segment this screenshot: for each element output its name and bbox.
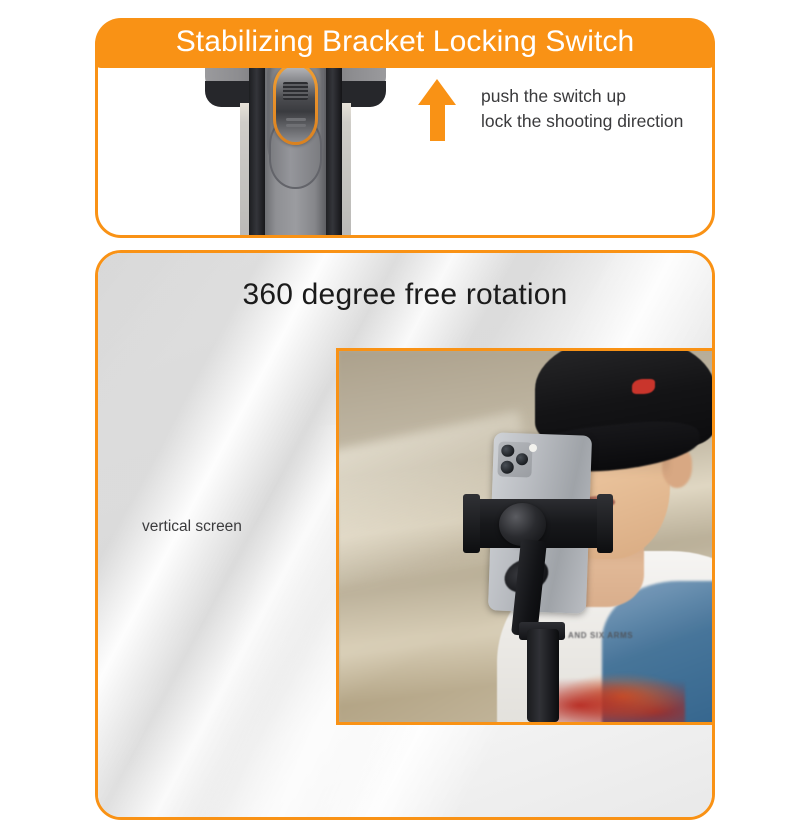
gimbal-switch-grip <box>283 82 308 100</box>
photo-phone-flash <box>529 444 537 452</box>
photo-gimbal-clamp-right-arm <box>597 494 614 553</box>
photo-cap-logo <box>632 379 655 394</box>
photo-gimbal-handle <box>527 629 559 722</box>
photo-gimbal-clamp-left-arm <box>463 494 480 553</box>
gimbal-switch-inner <box>276 66 315 142</box>
gimbal-left-strip <box>240 103 249 238</box>
gimbal-right-strip <box>342 103 351 238</box>
lifestyle-photo-content: HEADS AND SIX ARMS <box>339 351 715 722</box>
instruction-line-2: lock the shooting direction <box>481 109 683 134</box>
gimbal-switch-lines <box>286 118 306 128</box>
arrow-shaft <box>430 99 445 141</box>
page-title: Stabilizing Bracket Locking Switch <box>176 27 635 59</box>
instruction-text: push the switch up lock the shooting dir… <box>481 84 683 134</box>
rotation-card: 360 degree free rotation vertical screen… <box>95 250 715 820</box>
product-feature-page: push the switch up lock the shooting dir… <box>0 0 800 800</box>
rotation-heading: 360 degree free rotation <box>98 280 712 310</box>
photo-phone-camera-module <box>497 441 532 477</box>
gimbal-locking-switch[interactable] <box>273 63 318 145</box>
instruction-arrow-up-icon <box>418 79 456 141</box>
instruction-line-1: push the switch up <box>481 84 683 109</box>
section-title-banner: Stabilizing Bracket Locking Switch <box>95 18 715 68</box>
vertical-screen-label: vertical screen <box>142 519 242 535</box>
lifestyle-photo: HEADS AND SIX ARMS <box>336 348 715 725</box>
